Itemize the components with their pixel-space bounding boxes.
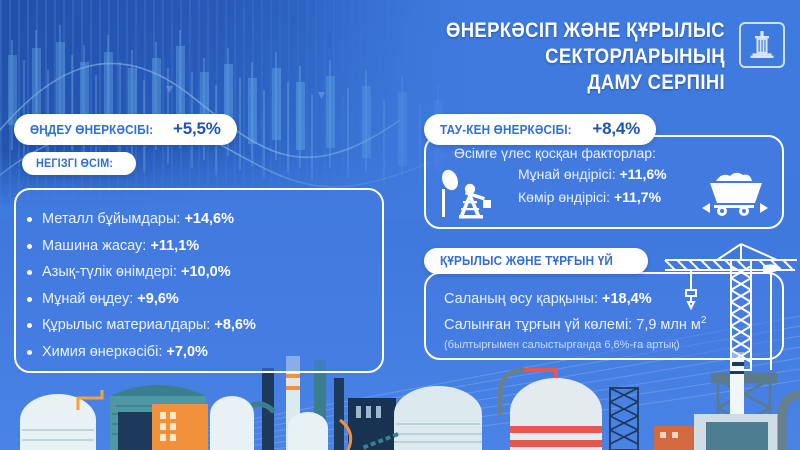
item-label: Машина жасау:: [42, 238, 146, 254]
pill-manufacturing[interactable]: ӨҢДЕУ ӨНЕРКӘСІБІ: +5,5%: [14, 114, 237, 145]
item-value: +10,0%: [181, 264, 231, 280]
item-label: Құрылыс материалдары:: [42, 317, 210, 333]
construction-rows: Саланың өсу қарқыны: +18,4% Салынған тұр…: [426, 274, 782, 354]
construction-row-volume: Салынған тұрғын үй көлемі: 7,9 млн м2: [444, 310, 782, 336]
item-value: +9,6%: [137, 291, 179, 307]
coal-cart-icon: [696, 167, 774, 217]
construction-card: Саланың өсу қарқыны: +18,4% Салынған тұр…: [424, 272, 784, 360]
pill-manufacturing-label: ӨҢДЕУ ӨНЕРКӘСІБІ:: [30, 122, 153, 137]
mining-row-value: +11,7%: [614, 189, 661, 205]
item-value: +11,1%: [150, 238, 199, 254]
infographic-root: ӨНЕРКӘСІП ЖӘНЕ ҚҰРЫЛЫС СЕКТОРЛАРЫНЫҢ ДАМ…: [0, 0, 800, 450]
pill-mining[interactable]: ТАУ-КЕН ӨНЕРКӘСІБІ: +8,4%: [424, 114, 656, 145]
government-building-icon: [739, 22, 785, 68]
mining-row-label: Көмір өндірісі:: [518, 189, 610, 205]
item-label: Мұнай өңдеу:: [42, 291, 133, 307]
construction-row-growth: Саланың өсу қарқыны: +18,4%: [444, 288, 782, 310]
list-item: Машина жасау: +11,1%: [42, 233, 368, 260]
page-title: ӨНЕРКӘСІП ЖӘНЕ ҚҰРЫЛЫС СЕКТОРЛАРЫНЫҢ ДАМ…: [298, 18, 725, 96]
construction-growth-value: +18,4%: [602, 291, 652, 307]
list-item: Құрылыс материалдары: +8,6%: [42, 312, 368, 339]
item-label: Азық-түлік өнімдері:: [42, 264, 177, 280]
pill-mining-label: ТАУ-КЕН ӨНЕРКӘСІБІ:: [440, 122, 572, 137]
pill-construction-label: ҚҰРЫЛЫС ЖӘНЕ ТҰРҒЫН ҮЙ: [440, 253, 613, 268]
mining-card: Өсімге үлес қосқан факторлар: Мұнай өнді…: [424, 135, 784, 229]
manufacturing-card: Металл бұйымдары: +14,6% Машина жасау: +…: [14, 188, 384, 373]
pill-mining-value: +8,4%: [592, 119, 640, 139]
title-line-1: ӨНЕРКӘСІП ЖӘНЕ ҚҰРЫЛЫС СЕКТОРЛАРЫНЫҢ: [298, 18, 725, 70]
construction-growth-label: Саланың өсу қарқыны:: [444, 291, 598, 307]
list-item: Азық-түлік өнімдері: +10,0%: [42, 259, 368, 286]
oil-pumpjack-icon: [436, 167, 510, 223]
construction-volume-label: Салынған тұрғын үй көлемі:: [444, 317, 632, 333]
construction-note: (былтырғымен салыстырғанда 6,6%-ға артық…: [444, 336, 782, 354]
construction-volume-value: 7,9 млн м: [636, 317, 701, 333]
list-item: Мұнай өңдеу: +9,6%: [42, 286, 368, 313]
item-value: +14,6%: [184, 211, 234, 227]
pill-main-growth-label: НЕГІЗГІ ӨСІМ:: [36, 156, 113, 170]
mining-row-label: Мұнай өндірісі:: [518, 166, 616, 182]
pill-manufacturing-value: +5,5%: [173, 119, 221, 139]
manufacturing-list: Металл бұйымдары: +14,6% Машина жасау: +…: [16, 190, 382, 365]
pill-construction[interactable]: ҚҰРЫЛЫС ЖӘНЕ ТҰРҒЫН ҮЙ: [424, 248, 648, 274]
pill-main-growth[interactable]: НЕГІЗГІ ӨСІМ:: [22, 152, 136, 175]
item-value: +7,0%: [166, 344, 208, 360]
item-label: Химия өнеркәсібі:: [42, 344, 162, 360]
title-line-2: ДАМУ СЕРПІНІ: [298, 70, 725, 96]
list-item: Металл бұйымдары: +14,6%: [42, 206, 368, 233]
item-label: Металл бұйымдары:: [42, 211, 180, 227]
construction-volume-unit-sup: 2: [701, 315, 707, 326]
list-item: Химия өнеркәсібі: +7,0%: [42, 339, 368, 366]
item-value: +8,6%: [214, 317, 256, 333]
mining-row-value: +11,6%: [619, 166, 666, 182]
header: ӨНЕРКӘСІП ЖӘНЕ ҚҰРЫЛЫС СЕКТОРЛАРЫНЫҢ ДАМ…: [240, 18, 785, 96]
